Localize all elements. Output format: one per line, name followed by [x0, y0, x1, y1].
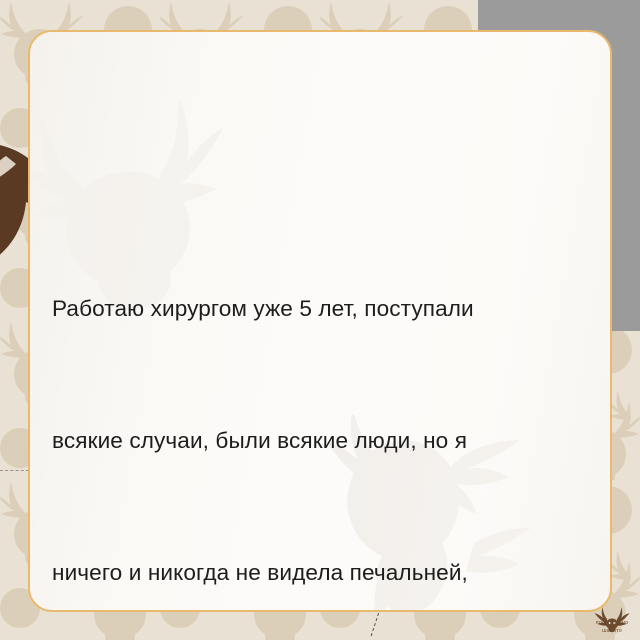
screenshot-canvas: Работаю хирургом уже 5 лет, поступали вс… [0, 0, 640, 640]
reindeer-logo-icon: подслушано шапито [586, 606, 638, 638]
quote-line: всякие случаи, были всякие люди, но я [52, 419, 598, 463]
quote-line: Работаю хирургом уже 5 лет, поступали [52, 287, 598, 331]
quote-text: Работаю хирургом уже 5 лет, поступали вс… [52, 199, 598, 612]
quote-line: ничего и никогда не видела печальней, [52, 551, 598, 595]
quote-card: Работаю хирургом уже 5 лет, поступали вс… [28, 30, 612, 612]
logo-text-line1: подслушано [586, 620, 638, 626]
logo-text-line2: шапито [586, 628, 638, 634]
